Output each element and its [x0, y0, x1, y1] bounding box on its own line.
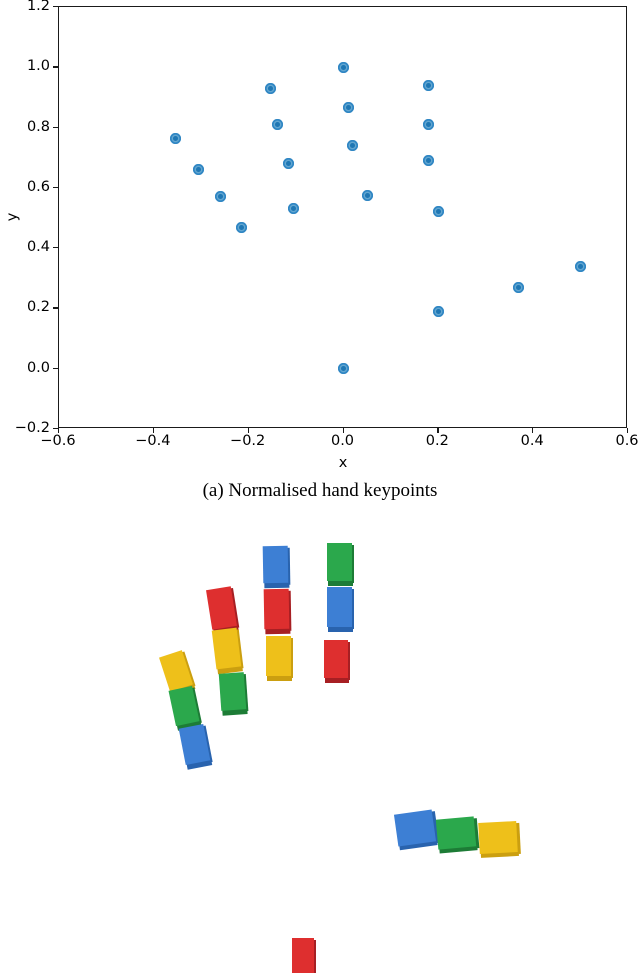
y-tick-label: 0.6 — [27, 179, 50, 195]
y-tick — [53, 187, 58, 188]
data-point — [193, 164, 204, 175]
block-palm-block-yellow — [478, 821, 518, 854]
y-tick — [53, 66, 58, 67]
block-index-proximal — [219, 672, 247, 711]
block-front-face — [264, 589, 290, 629]
block-middle-distal — [264, 589, 290, 629]
block-front-face — [324, 640, 348, 678]
block-index-distal — [212, 628, 242, 670]
y-tick-label: 0.4 — [27, 239, 50, 255]
x-tick-label: 0.0 — [331, 433, 354, 449]
block-front-face — [212, 628, 242, 670]
data-point — [347, 140, 358, 151]
y-tick-label: 0.2 — [27, 299, 50, 315]
y-tick-label: 0.0 — [27, 360, 50, 376]
data-point — [338, 62, 349, 73]
x-tick-label: 0.6 — [615, 433, 638, 449]
block-ring-tip — [327, 543, 352, 581]
data-point — [170, 133, 181, 144]
y-tick — [53, 428, 58, 429]
block-index-tip — [206, 586, 237, 629]
y-tick — [53, 6, 58, 7]
data-point — [288, 203, 299, 214]
figure-root: −0.6−0.4−0.20.00.20.40.6−0.20.00.20.40.6… — [0, 0, 640, 973]
panel-b-block-hand — [0, 510, 640, 973]
data-point — [283, 158, 294, 169]
y-tick-label: 1.2 — [27, 0, 50, 14]
panel-a-caption: (a) Normalised hand keypoints — [0, 480, 640, 502]
data-point — [423, 80, 434, 91]
data-point — [272, 119, 283, 130]
panel-a-scatter: −0.6−0.4−0.20.00.20.40.6−0.20.00.20.40.6… — [0, 0, 640, 510]
y-tick — [53, 368, 58, 369]
x-tick-label: 0.4 — [521, 433, 544, 449]
block-front-face — [436, 816, 476, 849]
plot-frame — [58, 6, 627, 428]
block-wrist-block — [292, 938, 314, 973]
block-front-face — [327, 587, 352, 627]
data-point — [265, 83, 276, 94]
block-thumb-middle — [169, 686, 200, 726]
block-front-face — [263, 546, 289, 583]
y-tick — [53, 247, 58, 248]
y-axis-label: y — [4, 213, 20, 222]
scatter-points-layer — [59, 7, 626, 427]
block-front-face — [219, 672, 247, 711]
y-tick-label: −0.2 — [15, 420, 50, 436]
data-point — [343, 102, 354, 113]
block-palm-block-green — [436, 816, 476, 849]
data-point — [215, 191, 226, 202]
y-tick-label: 0.8 — [27, 119, 50, 135]
block-ring-distal — [327, 587, 352, 627]
data-point — [513, 282, 524, 293]
data-point — [433, 206, 444, 217]
data-point — [423, 119, 434, 130]
data-point — [338, 363, 349, 374]
data-point — [423, 155, 434, 166]
data-point — [433, 306, 444, 317]
block-front-face — [478, 821, 518, 854]
block-front-face — [394, 810, 436, 847]
block-middle-proximal — [266, 636, 291, 676]
block-front-face — [266, 636, 291, 676]
data-point — [236, 222, 247, 233]
block-front-face — [292, 938, 314, 973]
x-tick-label: −0.4 — [135, 433, 170, 449]
x-axis-label: x — [339, 455, 348, 471]
block-front-face — [327, 543, 352, 581]
block-thumb-proximal — [179, 724, 211, 765]
data-point — [362, 190, 373, 201]
data-point — [575, 261, 586, 272]
block-middle-tip — [263, 546, 289, 583]
y-tick-label: 1.0 — [27, 58, 50, 74]
y-tick — [53, 307, 58, 308]
x-tick-label: −0.2 — [230, 433, 265, 449]
block-palm-block-blue — [394, 810, 436, 847]
block-ring-proximal — [324, 640, 348, 678]
x-tick-label: 0.2 — [426, 433, 449, 449]
y-tick — [53, 127, 58, 128]
